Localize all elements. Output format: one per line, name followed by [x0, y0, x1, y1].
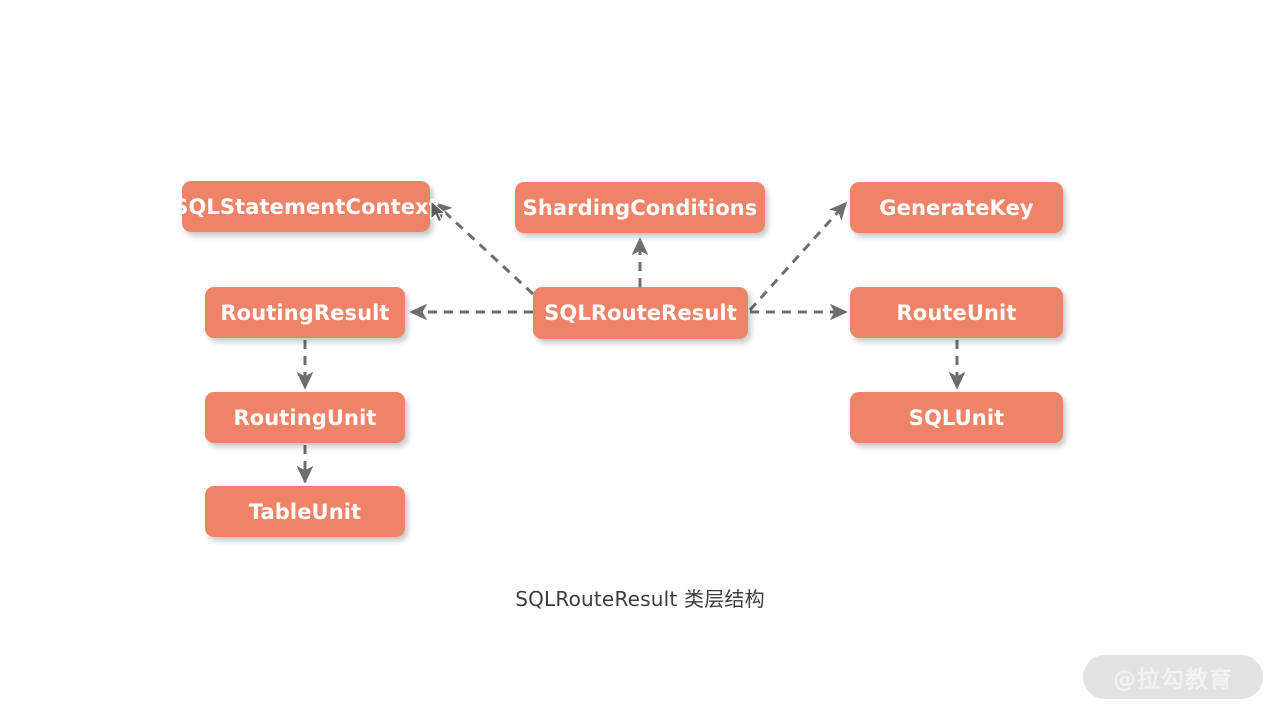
- watermark-label: @拉勾教育: [1113, 660, 1233, 694]
- node-routingresult[interactable]: RoutingResult: [205, 287, 405, 338]
- node-label: TableUnit: [249, 500, 361, 524]
- node-shardingconditions[interactable]: ShardingConditions: [515, 182, 765, 233]
- watermark-badge: @拉勾教育: [1083, 655, 1263, 699]
- node-label: GenerateKey: [879, 196, 1033, 220]
- node-label: RoutingUnit: [233, 406, 376, 430]
- node-generatekey[interactable]: GenerateKey: [850, 182, 1063, 233]
- node-sqlrouteresult[interactable]: SQLRouteResult: [533, 287, 748, 339]
- node-label: SQLUnit: [909, 406, 1005, 430]
- node-label: SQLRouteResult: [544, 301, 737, 325]
- node-routeunit[interactable]: RouteUnit: [850, 287, 1063, 338]
- node-sqlunit[interactable]: SQLUnit: [850, 392, 1063, 443]
- node-tableunit[interactable]: TableUnit: [205, 486, 405, 537]
- node-label: RoutingResult: [220, 301, 389, 325]
- node-routingunit[interactable]: RoutingUnit: [205, 392, 405, 443]
- diagram-canvas: SQLStatementContext ShardingConditions G…: [0, 0, 1280, 721]
- node-label: ShardingConditions: [523, 196, 758, 220]
- mouse-cursor-icon: [430, 200, 450, 226]
- diagram-edges: [0, 0, 1280, 721]
- node-label: SQLStatementContext: [173, 195, 439, 219]
- node-sqlstatementcontext[interactable]: SQLStatementContext: [182, 181, 430, 232]
- diagram-caption: SQLRouteResult 类层结构: [0, 583, 1280, 612]
- node-label: RouteUnit: [897, 301, 1017, 325]
